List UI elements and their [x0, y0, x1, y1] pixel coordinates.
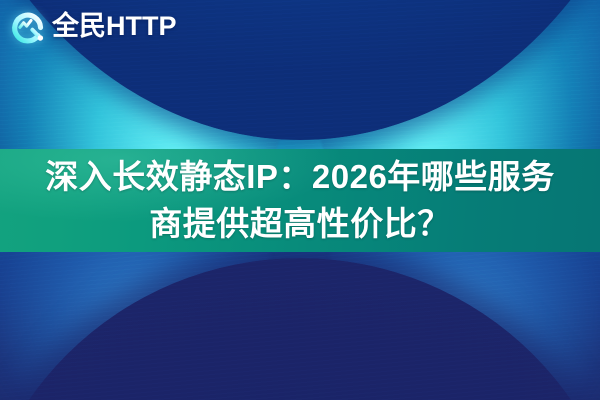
- brand-logo[interactable]: 全民HTTP: [9, 7, 177, 45]
- title-band: 深入长效静态IP：2026年哪些服务 商提供超高性价比？: [0, 149, 600, 252]
- lower-stripe-texture: [0, 252, 600, 400]
- lower-background: [0, 252, 600, 400]
- quan-min-http-circle-wave-icon: [9, 7, 47, 45]
- brand-name: 全民HTTP: [52, 13, 177, 40]
- title-line-1: 深入长效静态IP：2026年哪些服务: [45, 154, 555, 201]
- title-line-2: 商提供超高性价比？: [149, 201, 451, 248]
- promo-banner: 深入长效静态IP：2026年哪些服务 商提供超高性价比？: [0, 0, 600, 400]
